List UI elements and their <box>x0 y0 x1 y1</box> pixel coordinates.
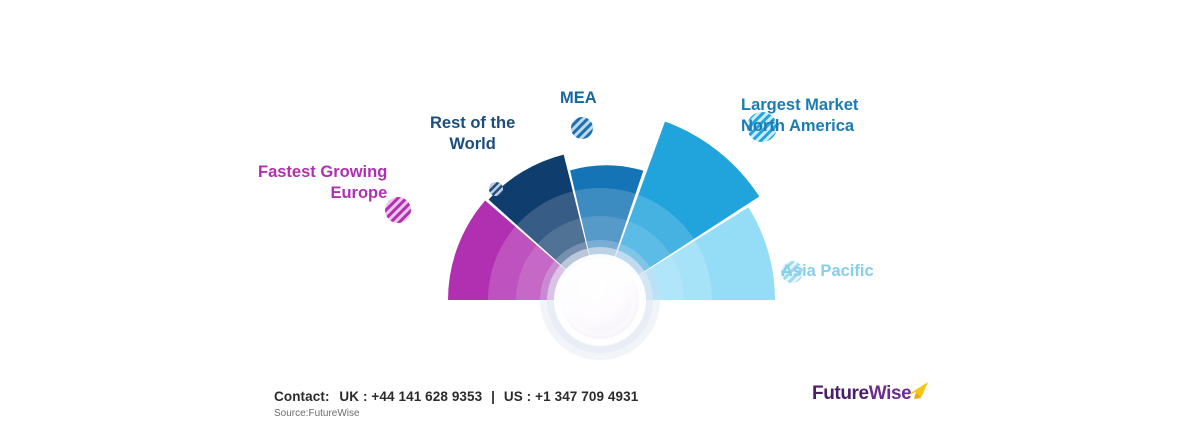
marker-dot-europe <box>385 197 411 223</box>
contact-line: Contact: UK : +44 141 628 9353 | US : +1… <box>274 389 638 404</box>
infographic-canvas: Fastest Growing Europe Rest of the World… <box>0 0 1200 428</box>
logo-word-future: Future <box>812 383 869 404</box>
marker-dot-mea <box>571 117 593 139</box>
logo-arrow-icon <box>904 381 930 401</box>
label-rest-of-world-line1: Rest of the <box>430 113 515 134</box>
label-mea[interactable]: MEA <box>560 88 597 109</box>
source-line: Source:FutureWise <box>274 408 360 419</box>
footer: Contact: UK : +44 141 628 9353 | US : +1… <box>0 380 1200 428</box>
label-north-america-line2: North America <box>741 116 858 137</box>
label-mea-text: MEA <box>560 88 597 109</box>
label-europe-line1: Fastest Growing <box>258 162 387 183</box>
us-phone[interactable]: +1 347 709 4931 <box>535 389 638 404</box>
label-europe-line2: Europe <box>258 183 387 204</box>
us-label: US : <box>504 389 531 404</box>
label-north-america-line1: Largest Market <box>741 95 858 116</box>
marker-dot-rest-of-world <box>489 182 503 196</box>
label-asia-pacific-line1: Asia Pacific <box>781 261 874 282</box>
contact-label: Contact: <box>274 389 330 404</box>
contact-separator: | <box>491 389 495 404</box>
label-asia-pacific-text: Asia Pacific <box>781 261 874 282</box>
label-europe-text: Fastest Growing Europe <box>258 162 387 204</box>
logo-wordmark: FutureWise <box>812 383 911 405</box>
regional-rose-chart <box>0 0 1200 428</box>
futurewise-logo[interactable]: FutureWise <box>812 383 932 417</box>
label-mea-line1: MEA <box>560 88 597 109</box>
uk-label: UK : <box>339 389 367 404</box>
label-rest-of-world-line2: World <box>430 134 515 155</box>
label-asia-pacific[interactable]: Asia Pacific <box>781 261 874 282</box>
label-rest-of-world-text: Rest of the World <box>430 113 515 155</box>
label-north-america-text: Largest Market North America <box>741 95 858 137</box>
uk-phone[interactable]: +44 141 628 9353 <box>371 389 482 404</box>
label-europe[interactable]: Fastest Growing Europe <box>258 162 387 204</box>
center-hub <box>540 240 660 360</box>
label-north-america[interactable]: Largest Market North America <box>741 95 858 137</box>
label-rest-of-world[interactable]: Rest of the World <box>430 113 515 155</box>
